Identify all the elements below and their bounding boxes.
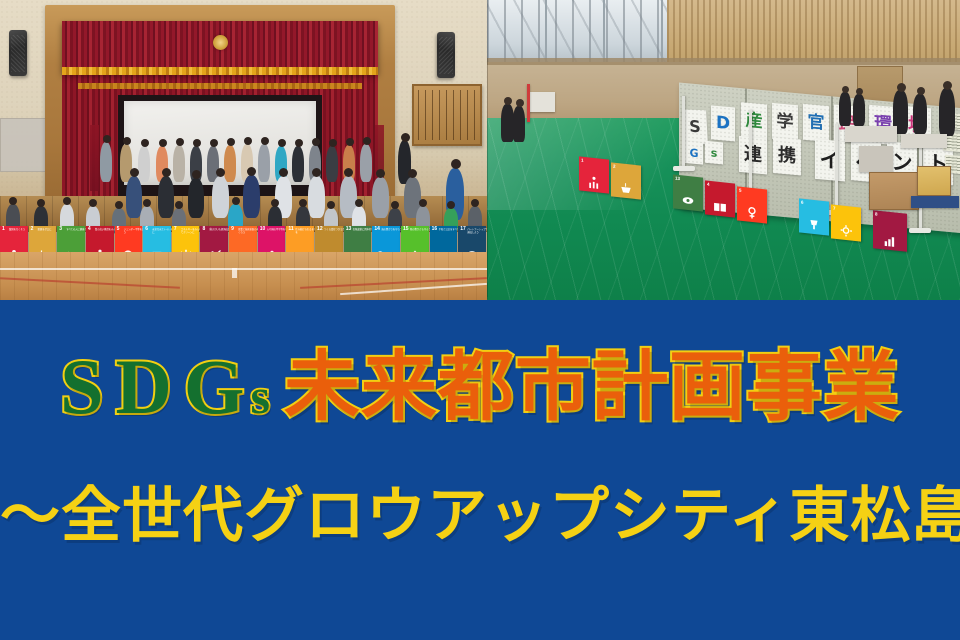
sdg-tile-number: 1	[581, 158, 584, 163]
sdg-panel-number: 11	[288, 227, 293, 232]
person	[138, 146, 150, 182]
sdg-panel-number: 2	[31, 227, 34, 232]
visitor-head	[897, 83, 906, 92]
sign-char: G	[685, 141, 703, 165]
floor-center-mark	[232, 268, 237, 278]
sign-char: D	[711, 105, 735, 141]
visitor-head	[842, 86, 849, 93]
title-band: SDGs未来都市計画事業 〜全世代グロウアップシティ東松島〜	[0, 300, 960, 640]
person-head	[247, 167, 256, 176]
sdg-icon-decent-work	[883, 233, 898, 248]
visitor	[513, 106, 525, 142]
person-head	[176, 138, 184, 146]
sdg-panel-number: 15	[403, 227, 409, 232]
sdg-panel-number: 13	[346, 227, 352, 232]
person	[173, 145, 185, 182]
sdg-tile-number: 6	[801, 200, 804, 205]
sign-char: 携	[773, 137, 801, 176]
sdg-panel-number: 1	[2, 227, 5, 232]
sdg-panel-number: 12	[317, 227, 323, 232]
title-s-text: s	[250, 371, 271, 421]
person-head	[261, 137, 269, 145]
person	[326, 146, 338, 182]
sign-char: 産	[741, 102, 767, 140]
sdg-icon-zero-hunger	[619, 181, 634, 196]
board-foot	[909, 228, 931, 233]
person-head	[471, 199, 479, 207]
person	[292, 146, 304, 182]
sdg-panel-number: 5	[117, 227, 120, 232]
board-foot	[673, 166, 695, 171]
sdg-panel-number: 16	[432, 227, 438, 232]
person-head	[103, 135, 111, 143]
valance-gold-trim	[62, 67, 378, 75]
person-head	[376, 169, 385, 178]
person-head	[327, 201, 335, 209]
floor-line-red	[0, 277, 180, 288]
stage-emblem-icon	[213, 35, 228, 50]
vertical-banner	[527, 84, 530, 122]
sdg-tile-number: 2	[613, 164, 616, 169]
speaker-icon	[437, 32, 455, 78]
person-head	[141, 139, 149, 147]
sdg-icon-gender-equality	[745, 205, 760, 220]
flat-cart	[911, 196, 959, 208]
visitor-head	[943, 81, 952, 90]
visitor-head	[504, 97, 512, 105]
board-leg	[835, 124, 838, 212]
visitor	[913, 94, 927, 134]
sdg-panel-number: 3	[59, 227, 62, 232]
sign-char: 官	[803, 104, 829, 142]
person-head	[295, 139, 303, 147]
board-leg	[749, 110, 752, 192]
person	[188, 178, 204, 218]
person-head	[162, 168, 171, 177]
gym-wooden-floor	[0, 252, 487, 300]
sdg-icon-quality-education	[713, 199, 728, 214]
board-seam	[831, 96, 833, 221]
person-head	[344, 168, 353, 177]
sdg-panel-number: 17	[460, 227, 466, 232]
person-head	[210, 139, 218, 147]
sdg-tile: 7	[831, 204, 861, 241]
sdg-tile: 5	[737, 186, 767, 223]
sdg-panel-number: 10	[260, 227, 266, 232]
event-table	[901, 134, 947, 148]
equipment-cart	[859, 146, 893, 172]
sdg-tile: 8	[873, 210, 907, 252]
person-head	[401, 133, 410, 142]
floor-line	[0, 268, 487, 270]
speaker-icon	[9, 30, 27, 76]
person-head	[312, 138, 320, 146]
person-head	[363, 137, 371, 145]
sdg-tile-number: 7	[833, 206, 836, 211]
person-head	[329, 139, 337, 147]
event-table	[845, 126, 897, 142]
hall-beam	[487, 58, 960, 65]
person-head	[130, 168, 139, 177]
sdg-panel-number: 8	[202, 227, 205, 232]
person-head	[193, 139, 201, 147]
title-sdg-text: SDG	[60, 348, 256, 426]
person-head	[232, 197, 240, 205]
photo-event-hall: S D 産 学 官 民 環 境 G s 連 携 イ ベ ン ト	[487, 0, 960, 300]
photo-strip: 1 貧困をなくそう 2 飢餓をゼロに 3 すべての人に健康と福祉を 4 質の高い…	[0, 0, 960, 300]
sign-char: 学	[772, 103, 798, 141]
cardboard-box	[917, 166, 951, 196]
person-head	[271, 199, 279, 207]
person	[243, 175, 260, 218]
sdgs-future-city-banner: 1 貧困をなくそう 2 飢餓をゼロに 3 すべての人に健康と福祉を 4 質の高い…	[0, 0, 960, 640]
person	[158, 176, 174, 218]
person-head	[419, 199, 427, 207]
sdg-tile-number: 13	[675, 176, 680, 182]
person-head	[159, 139, 167, 147]
sdg-panel-number: 7	[174, 227, 177, 232]
visitor-head	[516, 99, 524, 107]
sdg-tile: 4	[705, 180, 735, 217]
photo-divider	[487, 0, 488, 300]
window-mullion	[661, 0, 663, 62]
sdg-tile: 2	[611, 162, 641, 199]
visitor-head	[917, 87, 925, 95]
sign-char: s	[705, 141, 723, 165]
person-head	[346, 138, 354, 146]
sign-char: S	[682, 109, 708, 144]
person-head	[175, 201, 183, 209]
sdg-tile-number: 5	[739, 188, 742, 193]
sdg-panel-number: 9	[231, 227, 234, 232]
sign-char: イ	[815, 139, 845, 182]
sdg-tile-number: 8	[875, 211, 878, 216]
person-head	[355, 199, 363, 207]
sdg-panel-goal: パートナーシップで目標を達成しよう	[467, 228, 487, 234]
person-head	[37, 199, 45, 207]
person-head	[244, 137, 252, 145]
person-head	[299, 199, 307, 207]
person-head	[216, 168, 225, 177]
visitor	[839, 92, 851, 126]
person	[224, 145, 236, 182]
person-head	[312, 168, 321, 177]
person-head	[279, 168, 288, 177]
person-head	[278, 139, 286, 147]
visitor	[939, 88, 955, 136]
sdg-tile-number: 4	[707, 182, 710, 187]
person-head	[391, 201, 399, 209]
main-title: SDGs未来都市計画事業	[0, 348, 960, 426]
sdg-panel-number: 14	[374, 227, 380, 232]
person	[212, 176, 229, 218]
photo-gymnasium-group: 1 貧困をなくそう 2 飢餓をゼロに 3 すべての人に健康と福祉を 4 質の高い…	[0, 0, 487, 300]
person	[372, 177, 389, 218]
sdg-tile: 6	[799, 198, 829, 235]
sdg-panel-number: 6	[145, 227, 148, 232]
sdg-icon-clean-water	[807, 217, 822, 232]
sdg-icon-climate-action	[681, 193, 696, 208]
sdg-panel-number: 4	[88, 227, 91, 232]
person-head	[143, 199, 151, 207]
subtitle: 〜全世代グロウアップシティ東松島〜	[0, 486, 960, 546]
visitor	[853, 94, 865, 126]
person-head	[63, 197, 71, 205]
person	[308, 176, 325, 218]
person-head	[89, 199, 97, 207]
person-head	[447, 201, 455, 209]
window-mullion	[545, 0, 547, 62]
window-mullion	[603, 0, 605, 62]
person-head	[123, 137, 131, 145]
wall-poster	[529, 92, 555, 112]
title-japanese-text: 未来都市計画事業	[284, 349, 900, 425]
person-head	[9, 197, 17, 205]
person-head	[192, 170, 201, 179]
sdg-tile: 1	[579, 156, 609, 193]
person-head	[227, 138, 235, 146]
person	[100, 142, 112, 182]
person	[360, 144, 372, 182]
sdg-icon-clean-energy	[839, 223, 854, 238]
visitor-head	[856, 88, 863, 95]
sdg-tile: 13	[673, 174, 703, 211]
board-leg	[682, 96, 685, 168]
person-head	[408, 169, 417, 178]
person-head	[115, 201, 123, 209]
valance-gold-trim-lower	[78, 83, 362, 89]
person	[126, 176, 142, 218]
person	[258, 144, 270, 182]
person-head	[451, 159, 461, 169]
sdg-icon-no-poverty	[587, 175, 602, 190]
sign-char: 連	[739, 136, 767, 175]
